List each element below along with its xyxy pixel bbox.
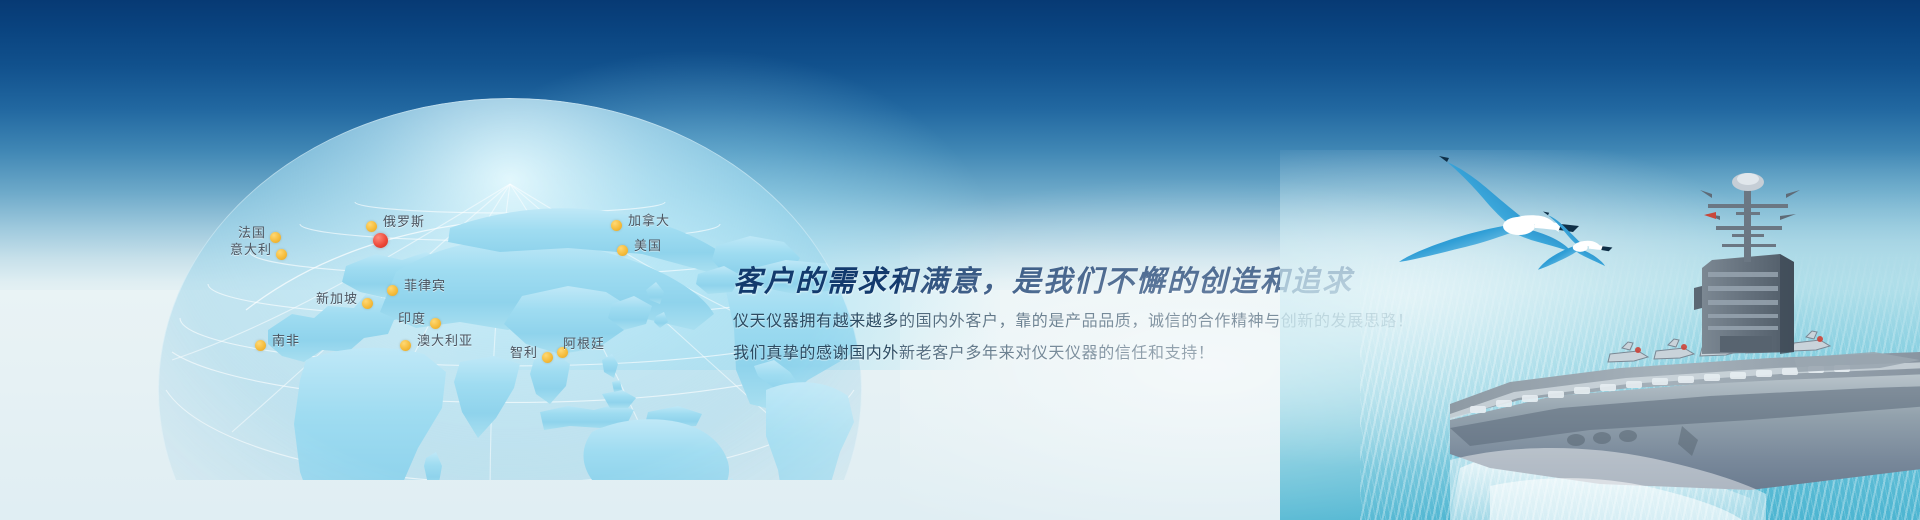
map-label-chile: 智利 — [0, 346, 538, 359]
map-marker-china[interactable] — [373, 233, 388, 248]
carrier-svg — [1450, 168, 1920, 520]
hero-banner: 法国意大利俄罗斯印度菲律宾新加坡澳大利亚南非加拿大美国智利阿根廷 客户的需求和满… — [0, 0, 1920, 520]
map-label-russia: 俄罗斯 — [383, 215, 425, 228]
carrier-island-tower — [1694, 173, 1800, 354]
map-label-philippines: 菲律宾 — [404, 279, 446, 292]
map-marker-italy[interactable] — [276, 249, 287, 260]
map-marker-philippines[interactable] — [387, 285, 398, 296]
map-label-singapore: 新加坡 — [0, 292, 358, 305]
map-marker-india[interactable] — [430, 318, 441, 329]
aircraft-carrier — [1450, 168, 1920, 520]
map-label-argentina: 阿根廷 — [563, 337, 605, 350]
map-marker-chile[interactable] — [542, 352, 553, 363]
map-label-india: 印度 — [0, 312, 426, 325]
map-marker-usa[interactable] — [617, 245, 628, 256]
map-label-france: 法国 — [0, 226, 266, 239]
map-label-usa: 美国 — [634, 239, 662, 252]
map-marker-france[interactable] — [270, 232, 281, 243]
map-marker-canada[interactable] — [611, 220, 622, 231]
map-marker-singapore[interactable] — [362, 298, 373, 309]
map-label-canada: 加拿大 — [628, 214, 670, 227]
map-marker-russia[interactable] — [366, 221, 377, 232]
map-label-italy: 意大利 — [0, 243, 272, 256]
